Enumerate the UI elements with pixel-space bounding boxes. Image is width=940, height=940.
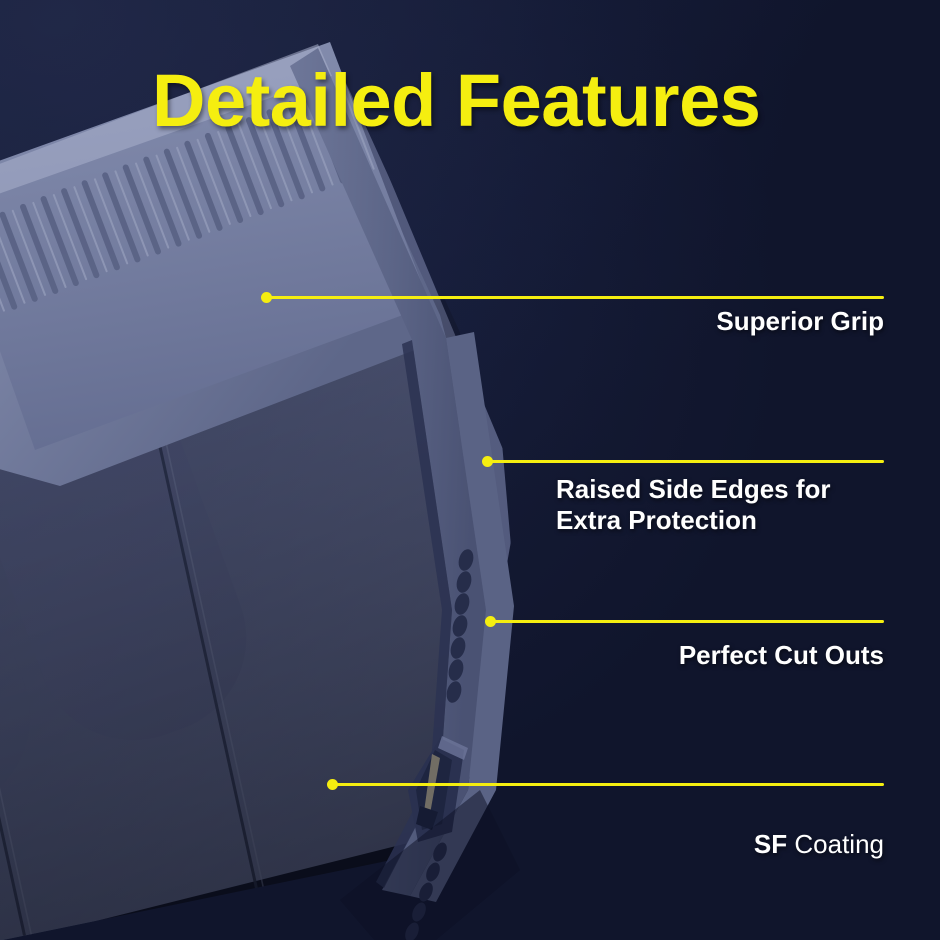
charging-port-cutout [408, 736, 468, 842]
speaker-grille-bottom [402, 840, 449, 940]
callout-line [332, 783, 884, 786]
callout-label: Superior Grip [484, 306, 884, 337]
callout-label-bold: SF [754, 829, 787, 859]
callout-dot [261, 292, 272, 303]
callout-label-light: Coating [787, 829, 884, 859]
callout-label: Raised Side Edges for Extra Protection [556, 474, 896, 535]
callout-dot [482, 456, 493, 467]
callout-dot [327, 779, 338, 790]
page-title: Detailed Features [152, 58, 760, 143]
case-side-wall [290, 48, 486, 896]
case-back-panel [0, 60, 520, 940]
callout-label: Perfect Cut Outs [484, 640, 884, 671]
infographic-canvas: Detailed Features Superior Grip Raised S… [0, 0, 940, 940]
callout-dot [485, 616, 496, 627]
callout-line [490, 620, 884, 623]
callout-line [266, 296, 884, 299]
speaker-grille-top [444, 547, 476, 704]
callout-label: SF Coating [484, 798, 884, 859]
callout-line [487, 460, 884, 463]
